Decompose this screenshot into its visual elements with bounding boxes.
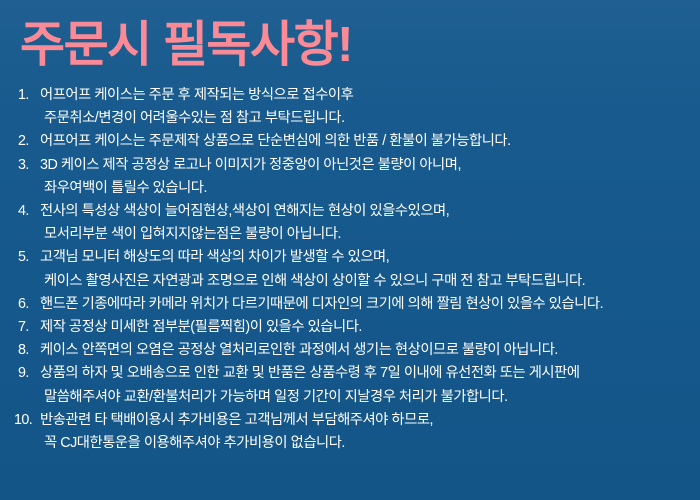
page-title: 주문시 필독사항! [18, 14, 686, 76]
notice-item-text-continued: 말씀해주셔야 교환/환불처리가 가능하며 일정 기간이 지날경우 처리가 불가합… [40, 386, 686, 409]
notice-item-text: 반송관련 타 택배이용시 추가비용은 고객님께서 부담해주셔야 하므로, [40, 409, 686, 432]
notice-list: 1.어프어프 케이스는 주문 후 제작되는 방식으로 접수이후주문취소/변경이 … [18, 84, 686, 455]
notice-item: 7.제작 공정상 미세한 점부분(필름찍힘)이 있을수 있습니다. [18, 316, 686, 339]
notice-item-text-continued: 모서리부분 색이 입혀지지않는점은 불량이 아닙니다. [40, 223, 686, 246]
notice-item: 10.반송관련 타 택배이용시 추가비용은 고객님께서 부담해주셔야 하므로,꼭… [18, 409, 686, 455]
notice-item-number: 6. [18, 293, 40, 316]
notice-item-text-continued: 좌우여백이 틀릴수 있습니다. [40, 177, 686, 200]
notice-item: 1.어프어프 케이스는 주문 후 제작되는 방식으로 접수이후주문취소/변경이 … [18, 84, 686, 130]
notice-item-number: 4. [18, 200, 40, 223]
notice-item-number: 10. [14, 409, 40, 432]
notice-item: 5.고객님 모니터 해상도의 따라 색상의 차이가 발생할 수 있으며,케이스 … [18, 246, 686, 292]
order-notice-banner: 주문시 필독사항! 1.어프어프 케이스는 주문 후 제작되는 방식으로 접수이… [0, 0, 700, 500]
notice-item-text: 고객님 모니터 해상도의 따라 색상의 차이가 발생할 수 있으며, [40, 246, 686, 269]
notice-item-number: 2. [18, 130, 40, 153]
notice-item-number: 3. [18, 154, 40, 177]
notice-item-text: 3D 케이스 제작 공정상 로고나 이미지가 정중앙이 아닌것은 불량이 아니며… [40, 154, 686, 177]
notice-item-text: 케이스 안쪽면의 오염은 공정상 열처리로인한 과정에서 생기는 현상이므로 불… [40, 339, 686, 362]
notice-item: 9.상품의 하자 및 오배송으로 인한 교환 및 반품은 상품수령 후 7일 이… [18, 362, 686, 408]
notice-item-text-continued: 케이스 촬영사진은 자연광과 조명으로 인해 색상이 상이할 수 있으니 구매 … [40, 270, 686, 293]
notice-item-number: 5. [18, 246, 40, 269]
notice-item: 3.3D 케이스 제작 공정상 로고나 이미지가 정중앙이 아닌것은 불량이 아… [18, 154, 686, 200]
notice-item: 4.전사의 특성상 색상이 늘어짐현상,색상이 연해지는 현상이 있을수있으며,… [18, 200, 686, 246]
notice-item-text: 어프어프 케이스는 주문 후 제작되는 방식으로 접수이후 [40, 84, 686, 107]
notice-item-number: 7. [18, 316, 40, 339]
notice-item: 8.케이스 안쪽면의 오염은 공정상 열처리로인한 과정에서 생기는 현상이므로… [18, 339, 686, 362]
notice-item-text-continued: 꼭 CJ대한통운을 이용해주셔야 추가비용이 없습니다. [40, 432, 686, 455]
notice-item: 6.핸드폰 기종에따라 카메라 위치가 다르기때문에 디자인의 크기에 의해 짤… [18, 293, 686, 316]
notice-item: 2.어프어프 케이스는 주문제작 상품으로 단순변심에 의한 반품 / 환불이 … [18, 130, 686, 153]
notice-item-number: 1. [18, 84, 40, 107]
notice-item-text: 상품의 하자 및 오배송으로 인한 교환 및 반품은 상품수령 후 7일 이내에… [40, 362, 686, 385]
notice-item-text: 제작 공정상 미세한 점부분(필름찍힘)이 있을수 있습니다. [40, 316, 686, 339]
banner-content: 주문시 필독사항! 1.어프어프 케이스는 주문 후 제작되는 방식으로 접수이… [0, 0, 700, 455]
notice-item-number: 9. [18, 362, 40, 385]
notice-item-text: 어프어프 케이스는 주문제작 상품으로 단순변심에 의한 반품 / 환불이 불가… [40, 130, 686, 153]
notice-item-number: 8. [18, 339, 40, 362]
notice-item-text-continued: 주문취소/변경이 어려울수있는 점 참고 부탁드립니다. [40, 107, 686, 130]
notice-item-text: 핸드폰 기종에따라 카메라 위치가 다르기때문에 디자인의 크기에 의해 짤림 … [40, 293, 686, 316]
notice-item-text: 전사의 특성상 색상이 늘어짐현상,색상이 연해지는 현상이 있을수있으며, [40, 200, 686, 223]
